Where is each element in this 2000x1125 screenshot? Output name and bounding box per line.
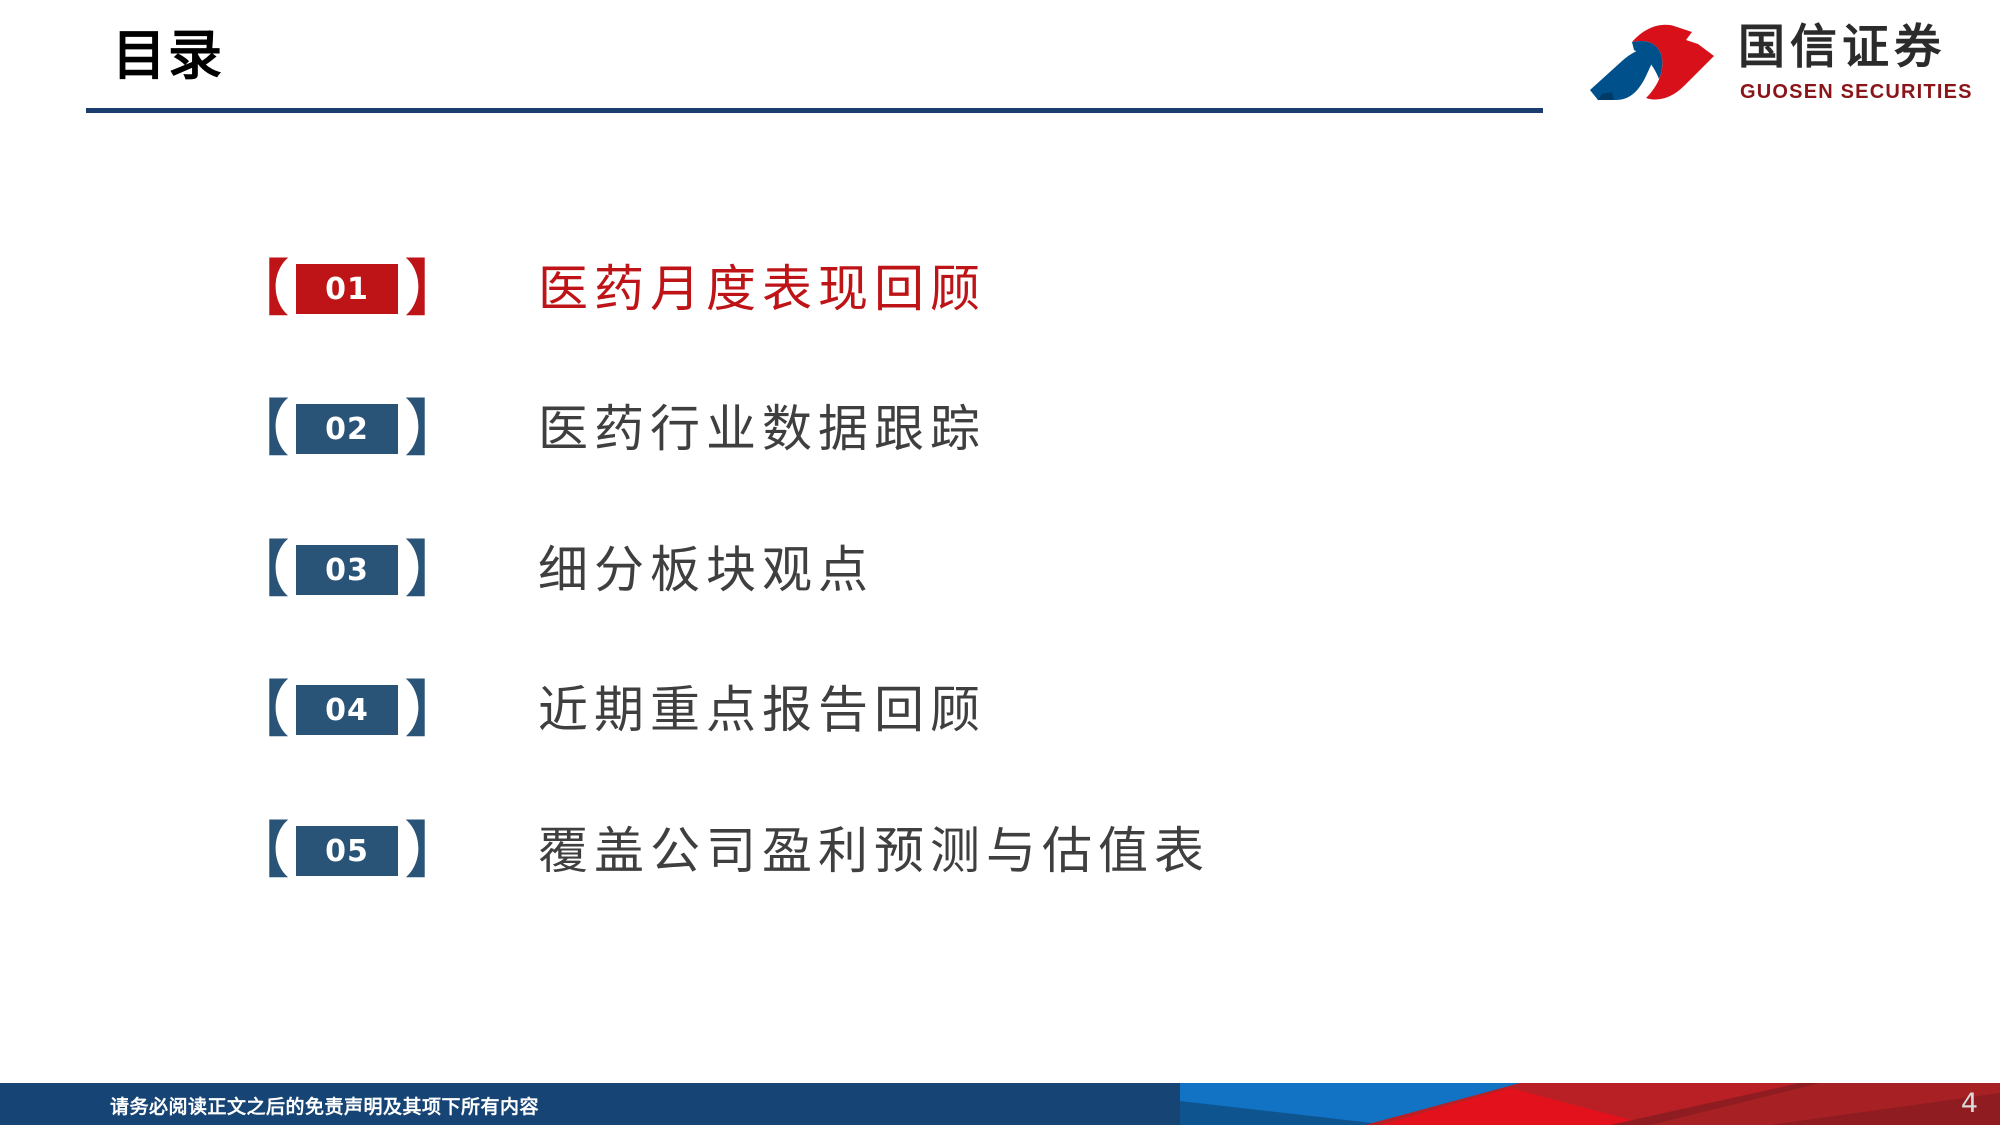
header-divider xyxy=(86,108,1543,113)
toc-item-04[interactable]: 【 04 】 近期重点报告回顾 xyxy=(228,673,986,747)
bracket-right-icon: 】 xyxy=(404,539,466,601)
logo-name-en: GUOSEN SECURITIES xyxy=(1740,80,1973,104)
toc-item-label: 近期重点报告回顾 xyxy=(538,680,986,740)
slide-footer: 请务必阅读正文之后的免责声明及其项下所有内容 4 xyxy=(0,1083,2000,1125)
toc-item-03[interactable]: 【 03 】 细分板块观点 xyxy=(228,533,874,607)
toc-item-02[interactable]: 【 02 】 医药行业数据跟踪 xyxy=(228,392,986,466)
toc-number-badge: 04 xyxy=(296,685,398,735)
bracket-left-icon: 【 xyxy=(228,539,290,601)
footer-decoration xyxy=(1180,1083,2000,1125)
toc-number-badge: 05 xyxy=(296,826,398,876)
page-title: 目录 xyxy=(112,24,224,88)
toc-item-label: 医药行业数据跟踪 xyxy=(538,399,986,459)
toc-number-badge: 01 xyxy=(296,264,398,314)
page-number: 4 xyxy=(1961,1089,1978,1119)
toc-number-badge: 02 xyxy=(296,404,398,454)
toc-item-label: 覆盖公司盈利预测与估值表 xyxy=(538,821,1210,881)
bracket-right-icon: 】 xyxy=(404,820,466,882)
toc-number-badge: 03 xyxy=(296,545,398,595)
bracket-right-icon: 】 xyxy=(404,258,466,320)
bracket-left-icon: 【 xyxy=(228,820,290,882)
company-logo: 国信证券 GUOSEN SECURITIES xyxy=(1588,14,1988,110)
toc-item-01[interactable]: 【 01 】 医药月度表现回顾 xyxy=(228,252,986,326)
toc-item-05[interactable]: 【 05 】 覆盖公司盈利预测与估值表 xyxy=(228,814,1210,888)
toc-item-label: 细分板块观点 xyxy=(538,540,874,600)
bracket-left-icon: 【 xyxy=(228,258,290,320)
guosen-logo-mark xyxy=(1588,20,1716,104)
bracket-right-icon: 】 xyxy=(404,679,466,741)
bracket-left-icon: 【 xyxy=(228,679,290,741)
logo-name-cn: 国信证券 xyxy=(1738,20,1946,76)
bracket-right-icon: 】 xyxy=(404,398,466,460)
toc-item-label: 医药月度表现回顾 xyxy=(538,259,986,319)
footer-disclaimer: 请务必阅读正文之后的免责声明及其项下所有内容 xyxy=(110,1092,539,1119)
bracket-left-icon: 【 xyxy=(228,398,290,460)
